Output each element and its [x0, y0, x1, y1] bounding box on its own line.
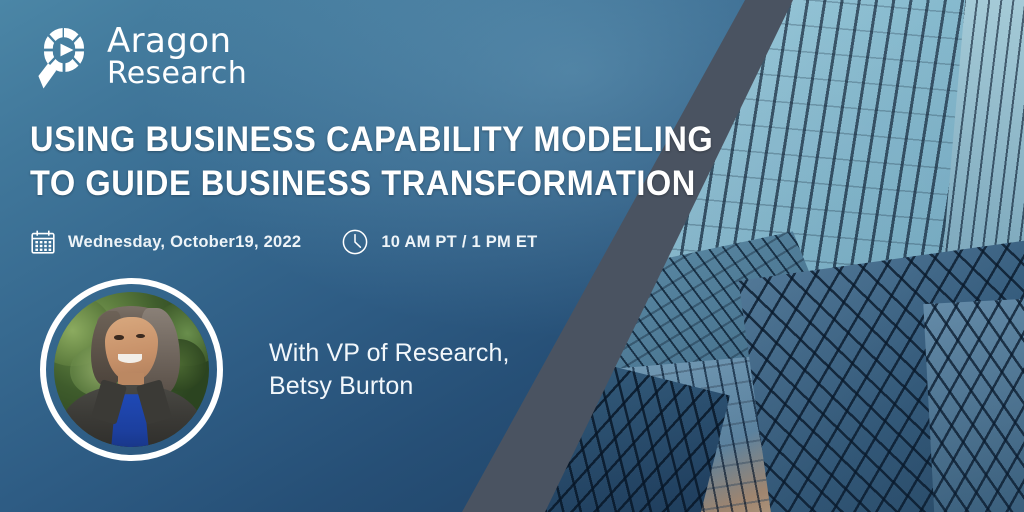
speaker-role: With VP of Research, — [269, 337, 510, 370]
speaker-name: Betsy Burton — [269, 370, 510, 403]
event-time: 10 AM PT / 1 PM ET — [341, 228, 537, 256]
speaker-block: With VP of Research, Betsy Burton — [40, 278, 510, 461]
event-meta-row: Wednesday, October19, 2022 10 AM PT / 1 … — [30, 228, 537, 256]
avatar-ring — [40, 278, 223, 461]
logo-text-line1: Aragon — [107, 25, 247, 58]
headline-line-2: To Guide Business Transformation — [30, 162, 607, 206]
aragon-research-logo[interactable]: Aragon Research — [34, 22, 247, 92]
headline-line-1: Using Business Capability Modeling — [30, 118, 607, 162]
event-date-label: Wednesday, October19, 2022 — [68, 233, 301, 252]
clock-icon — [341, 228, 369, 256]
calendar-icon — [30, 229, 56, 255]
event-date: Wednesday, October19, 2022 — [30, 229, 301, 255]
avatar-eye-left — [114, 335, 123, 340]
webinar-promo-banner: Aragon Research Using Business Capabilit… — [0, 0, 1024, 512]
event-time-label: 10 AM PT / 1 PM ET — [381, 233, 537, 252]
logo-text-line2: Research — [107, 60, 247, 89]
speaker-text: With VP of Research, Betsy Burton — [269, 337, 510, 403]
page-title: Using Business Capability Modeling To Gu… — [30, 118, 607, 206]
banner-content: Aragon Research Using Business Capabilit… — [0, 0, 1024, 512]
aragon-circular-play-logo — [34, 22, 96, 92]
avatar — [54, 292, 209, 447]
